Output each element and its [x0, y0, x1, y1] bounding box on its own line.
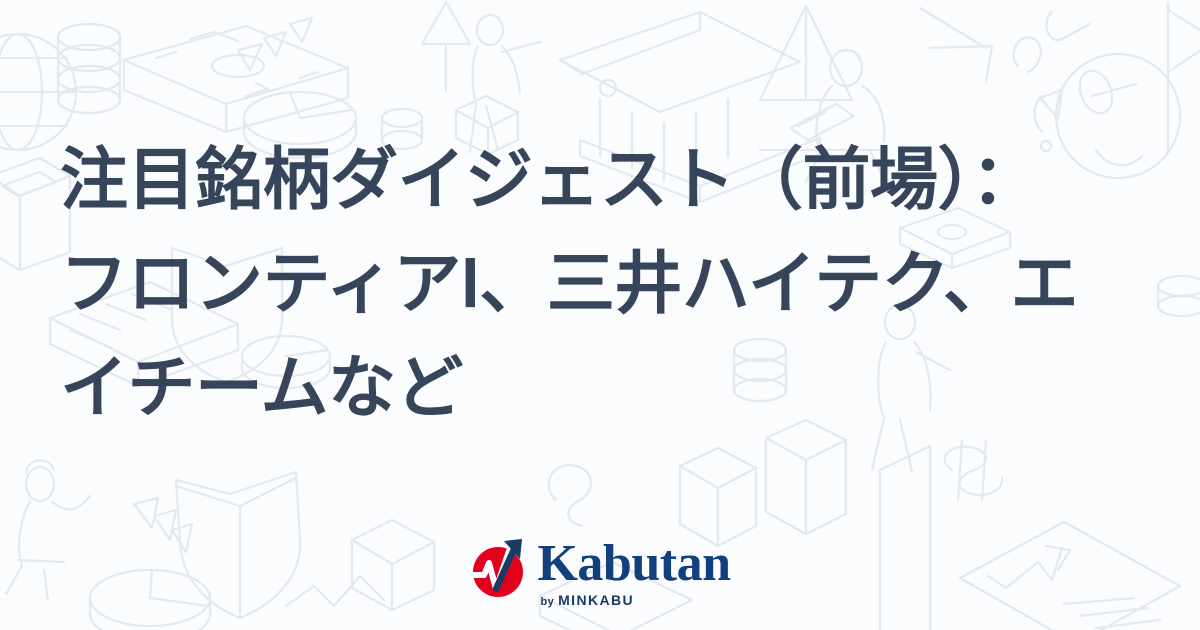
byline-brand: MINKABU: [558, 592, 634, 608]
swirl-icon: [549, 465, 591, 526]
kabutan-logo: Kabutan by MINKABU: [0, 532, 1200, 610]
pyramid-icon: [760, 6, 852, 100]
title-line-1: 注目銘柄ダイジェスト（前場）：: [60, 128, 1150, 232]
coin-stack-3-icon: [1158, 276, 1200, 316]
down-arrow-icon: [920, 8, 992, 82]
lamp-icon: [422, 2, 470, 92]
arrow-triangles-icon: [238, 18, 312, 70]
coin-stack-icon: [58, 24, 120, 113]
byline-prefix: by: [540, 596, 554, 608]
kabutan-wordmark: Kabutan: [537, 539, 730, 589]
banknote-icon: [124, 26, 348, 132]
kabutan-chart-arrow-mark-icon: [469, 537, 531, 599]
flag-icon: [1168, 4, 1200, 152]
minkabu-byline: by MINKABU: [540, 592, 634, 608]
title-line-3: イチームなど: [60, 336, 1150, 440]
page-title: 注目銘柄ダイジェスト（前場）： フロンティアl、三井ハイテク、エ イチームなど: [60, 128, 1150, 440]
yen-squiggle-icon: [1014, 12, 1090, 72]
dollar-sign-icon: [945, 440, 1003, 500]
og-image-card: 注目銘柄ダイジェスト（前場）： フロンティアl、三井ハイテク、エ イチームなど …: [0, 0, 1200, 630]
title-line-2: フロンティアl、三井ハイテク、エ: [60, 232, 1150, 336]
